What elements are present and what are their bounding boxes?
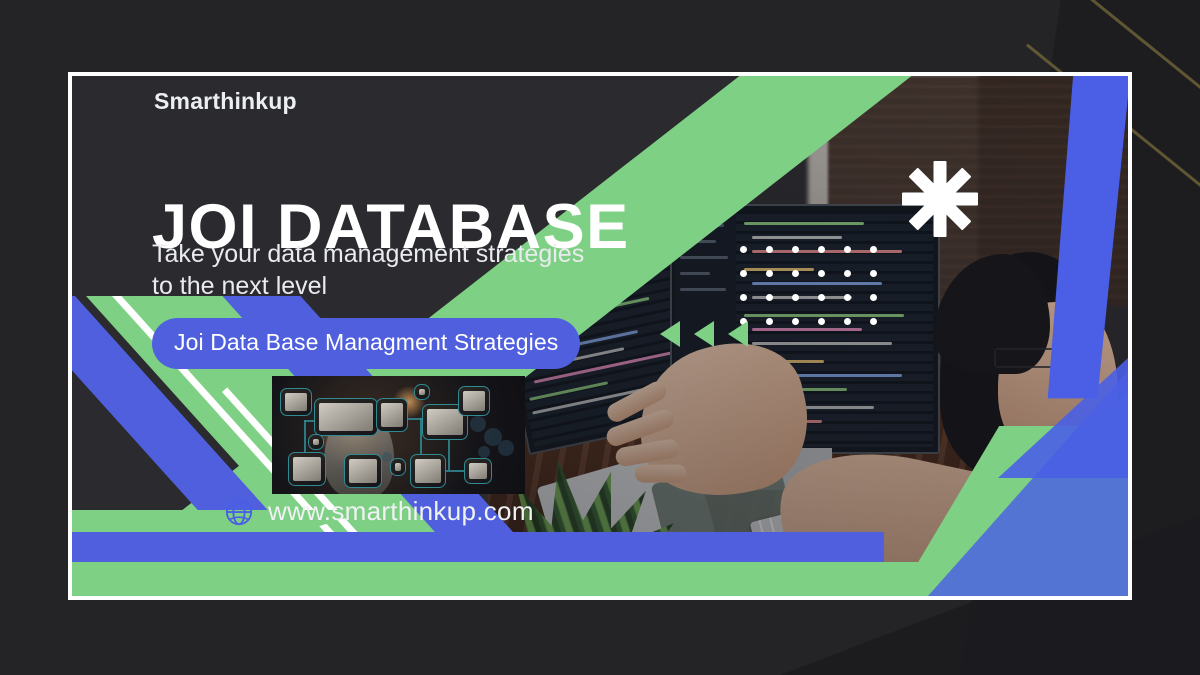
cta-button[interactable]: Joi Data Base Managment Strategies	[152, 318, 580, 369]
grid-dot	[766, 246, 773, 253]
illustration-node-reports	[344, 454, 382, 488]
grid-dot	[766, 318, 773, 325]
grid-dot	[844, 294, 851, 301]
left-triangle-arrow-icon	[728, 321, 748, 347]
grid-dot	[792, 318, 799, 325]
dot-grid-pattern	[740, 246, 896, 342]
illustration-node-small-2	[414, 384, 430, 400]
illustration-node-small-3	[390, 458, 406, 476]
illustration-node-folder	[288, 452, 326, 486]
left-triangle-arrow-icon	[694, 321, 714, 347]
illustration-node-printer	[464, 458, 492, 484]
illustration-node-chart	[410, 454, 446, 488]
grid-dot	[870, 294, 877, 301]
illustration-node-stack-docs	[458, 386, 490, 416]
tagline: Take your data management strategies to …	[152, 238, 584, 302]
grid-dot	[766, 270, 773, 277]
tagline-line-2: to the next level	[152, 270, 584, 302]
website-row[interactable]: www.smarthinkup.com	[224, 496, 534, 527]
grid-dot	[740, 270, 747, 277]
grid-dot	[818, 246, 825, 253]
illustration-node-search-doc	[376, 398, 408, 432]
left-triangle-arrow-icon	[660, 321, 680, 347]
grid-dot	[844, 246, 851, 253]
illustration-node-document	[280, 388, 312, 416]
grid-dot	[844, 318, 851, 325]
grid-dot	[818, 294, 825, 301]
bottom-blue-bar	[72, 532, 884, 562]
grid-dot	[792, 246, 799, 253]
grid-dot	[792, 294, 799, 301]
website-url[interactable]: www.smarthinkup.com	[268, 496, 534, 527]
grid-dot	[870, 318, 877, 325]
banner-canvas: Smarthinkup JOI DATABASE Take your data …	[72, 76, 1128, 596]
brand-name: Smarthinkup	[154, 88, 297, 115]
grid-dot	[792, 270, 799, 277]
grid-dot	[740, 246, 747, 253]
grid-dot	[740, 294, 747, 301]
grid-dot	[818, 318, 825, 325]
illustration-node-image	[314, 398, 378, 436]
grid-dot	[766, 294, 773, 301]
banner-frame: Smarthinkup JOI DATABASE Take your data …	[68, 72, 1132, 600]
asterisk-star-icon	[902, 161, 978, 237]
grid-dot	[844, 270, 851, 277]
illustration-node-small-1	[308, 434, 324, 450]
grid-dot	[818, 270, 825, 277]
grid-dot	[870, 270, 877, 277]
grid-dot	[870, 246, 877, 253]
tagline-line-1: Take your data management strategies	[152, 238, 584, 270]
globe-icon	[224, 497, 254, 527]
document-management-network-illustration	[272, 376, 525, 494]
